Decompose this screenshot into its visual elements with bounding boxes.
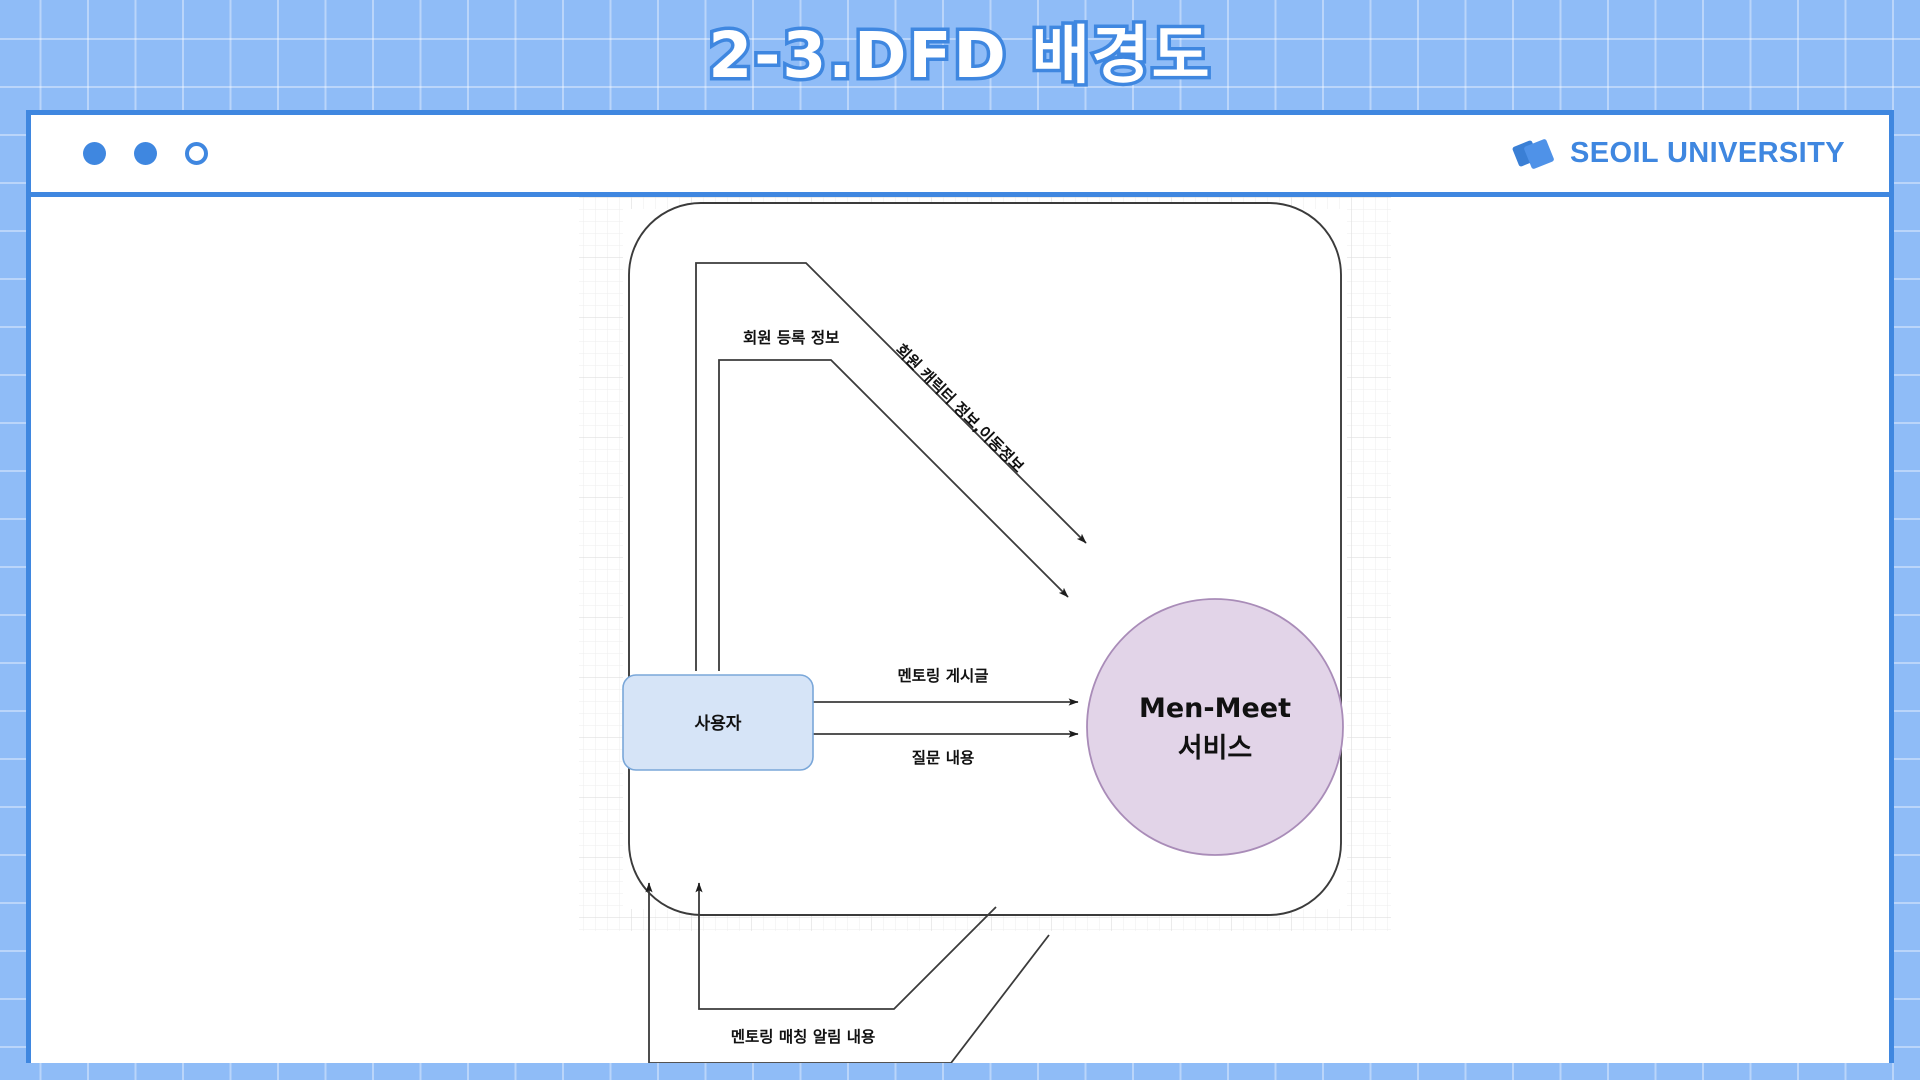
slide-title-bar: 2-3.DFD 배경도	[0, 0, 1920, 100]
brand-logo-group: SEOIL UNIVERSITY	[1512, 134, 1845, 174]
window-dot-one-icon[interactable]	[83, 142, 106, 165]
flow-label-멘토링-매칭-알림-내용: 멘토링 매칭 알림 내용	[731, 1027, 876, 1046]
process-menmeet-shape	[1087, 599, 1343, 855]
process-menmeet-label-line2: 서비스	[1178, 733, 1253, 764]
diagram-canvas: 사용자 Men-Meet 서비스 회원 캐릭터 정보,이동정보 회원 등록 정보…	[31, 197, 1889, 1063]
browser-window-card: SEOIL UNIVERSITY	[26, 110, 1894, 1063]
flow-label-회원-등록-정보: 회원 등록 정보	[743, 328, 839, 347]
dfd-context-diagram: 사용자 Men-Meet 서비스 회원 캐릭터 정보,이동정보 회원 등록 정보…	[31, 197, 1889, 1063]
window-dot-three-icon[interactable]	[185, 142, 208, 165]
process-menmeet-label-line1: Men-Meet	[1139, 693, 1291, 724]
window-dot-two-icon[interactable]	[134, 142, 157, 165]
page-title: 2-3.DFD 배경도	[708, 5, 1211, 96]
window-header: SEOIL UNIVERSITY	[31, 115, 1889, 197]
brand-name: SEOIL UNIVERSITY	[1570, 137, 1845, 170]
process-menmeet[interactable]: Men-Meet 서비스	[1087, 599, 1343, 855]
seoil-university-logo-icon	[1512, 134, 1558, 174]
entity-user-label: 사용자	[695, 714, 742, 734]
flow-label-질문-내용: 질문 내용	[912, 748, 974, 767]
flow-label-멘토링-게시글: 멘토링 게시글	[898, 666, 989, 685]
window-control-dots	[83, 142, 208, 165]
entity-user[interactable]: 사용자	[623, 675, 813, 770]
